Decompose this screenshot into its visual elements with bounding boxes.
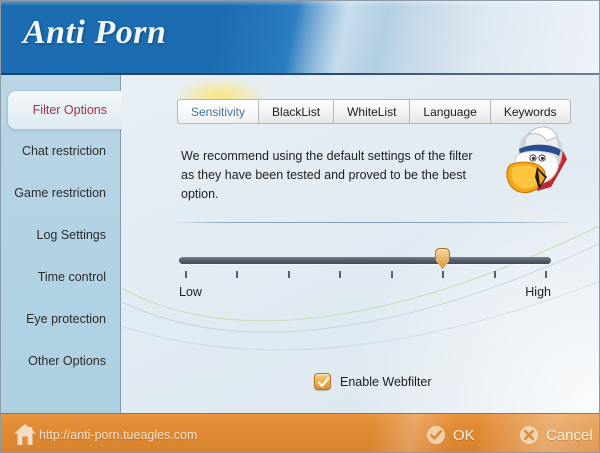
tab-label: Keywords bbox=[504, 105, 557, 119]
tab-sensitivity[interactable]: Sensitivity bbox=[177, 99, 259, 124]
sidebar-item-chat-restriction[interactable]: Chat restriction bbox=[1, 130, 121, 172]
sensitivity-slider[interactable]: Low High bbox=[179, 247, 551, 302]
sidebar-item-filter-options[interactable]: Filter Options bbox=[7, 90, 122, 130]
sidebar-item-label: Filter Options bbox=[33, 103, 107, 117]
tab-label: Language bbox=[423, 105, 476, 119]
sidebar-item-game-restriction[interactable]: Game restriction bbox=[1, 172, 121, 214]
app-title: Anti Porn bbox=[23, 14, 166, 52]
enable-webfilter-checkbox[interactable]: Enable Webfilter bbox=[314, 373, 432, 390]
content-panel: SensitivityBlackListWhiteListLanguageKey… bbox=[122, 75, 600, 413]
cancel-button-label: Cancel bbox=[546, 427, 593, 444]
slider-tick bbox=[494, 271, 496, 278]
checkbox-label: Enable Webfilter bbox=[340, 375, 432, 389]
slider-tick bbox=[391, 271, 393, 278]
sidebar-item-eye-protection[interactable]: Eye protection bbox=[1, 298, 121, 340]
checkmark-icon bbox=[316, 375, 331, 390]
cancel-button[interactable]: Cancel bbox=[519, 425, 593, 445]
slider-low-label: Low bbox=[179, 285, 202, 299]
tab-label: BlackList bbox=[272, 105, 320, 119]
sidebar-item-other-options[interactable]: Other Options bbox=[1, 340, 121, 382]
checkbox-box[interactable] bbox=[314, 373, 331, 390]
tab-whitelist[interactable]: WhiteList bbox=[334, 99, 410, 124]
slider-tick bbox=[236, 271, 238, 278]
sidebar: Filter OptionsChat restrictionGame restr… bbox=[1, 75, 121, 413]
body-area: Filter OptionsChat restrictionGame restr… bbox=[1, 75, 600, 413]
application-window: Anti Porn Filter OptionsChat restriction… bbox=[0, 0, 600, 453]
section-divider bbox=[172, 222, 580, 223]
sidebar-item-label: Game restriction bbox=[14, 186, 106, 200]
circle-x-icon bbox=[519, 425, 539, 445]
circle-check-icon bbox=[426, 425, 446, 445]
tab-blacklist[interactable]: BlackList bbox=[259, 99, 334, 124]
tab-label: WhiteList bbox=[347, 105, 396, 119]
slider-tick bbox=[545, 271, 547, 278]
tab-language[interactable]: Language bbox=[410, 99, 490, 124]
slider-ticks bbox=[179, 271, 551, 279]
home-icon[interactable] bbox=[13, 423, 37, 446]
ok-button[interactable]: OK bbox=[426, 425, 475, 445]
slider-tick bbox=[442, 271, 444, 278]
sidebar-item-log-settings[interactable]: Log Settings bbox=[1, 214, 121, 256]
tab-label: Sensitivity bbox=[191, 105, 245, 119]
footer-bar: http://anti-porn.tueagles.com OK Cancel bbox=[1, 413, 600, 453]
ok-button-label: OK bbox=[453, 427, 475, 444]
sidebar-item-time-control[interactable]: Time control bbox=[1, 256, 121, 298]
slider-track[interactable] bbox=[179, 257, 551, 264]
window-header: Anti Porn bbox=[1, 1, 600, 75]
slider-tick bbox=[288, 271, 290, 278]
sidebar-nav-list: Filter OptionsChat restrictionGame restr… bbox=[1, 90, 121, 382]
slider-handle[interactable] bbox=[435, 248, 450, 269]
recommendation-text: We recommend using the default settings … bbox=[181, 147, 481, 204]
slider-tick bbox=[185, 271, 187, 278]
sidebar-item-label: Time control bbox=[38, 270, 106, 284]
sidebar-item-label: Chat restriction bbox=[22, 144, 106, 158]
slider-tick bbox=[339, 271, 341, 278]
slider-high-label: High bbox=[525, 285, 551, 299]
footer-url[interactable]: http://anti-porn.tueagles.com bbox=[39, 428, 197, 442]
sidebar-item-label: Other Options bbox=[28, 354, 106, 368]
header-highlight bbox=[1, 1, 600, 6]
sidebar-item-label: Eye protection bbox=[26, 312, 106, 326]
sidebar-item-label: Log Settings bbox=[37, 228, 107, 242]
helmeted-bird-mascot-icon bbox=[495, 121, 571, 199]
